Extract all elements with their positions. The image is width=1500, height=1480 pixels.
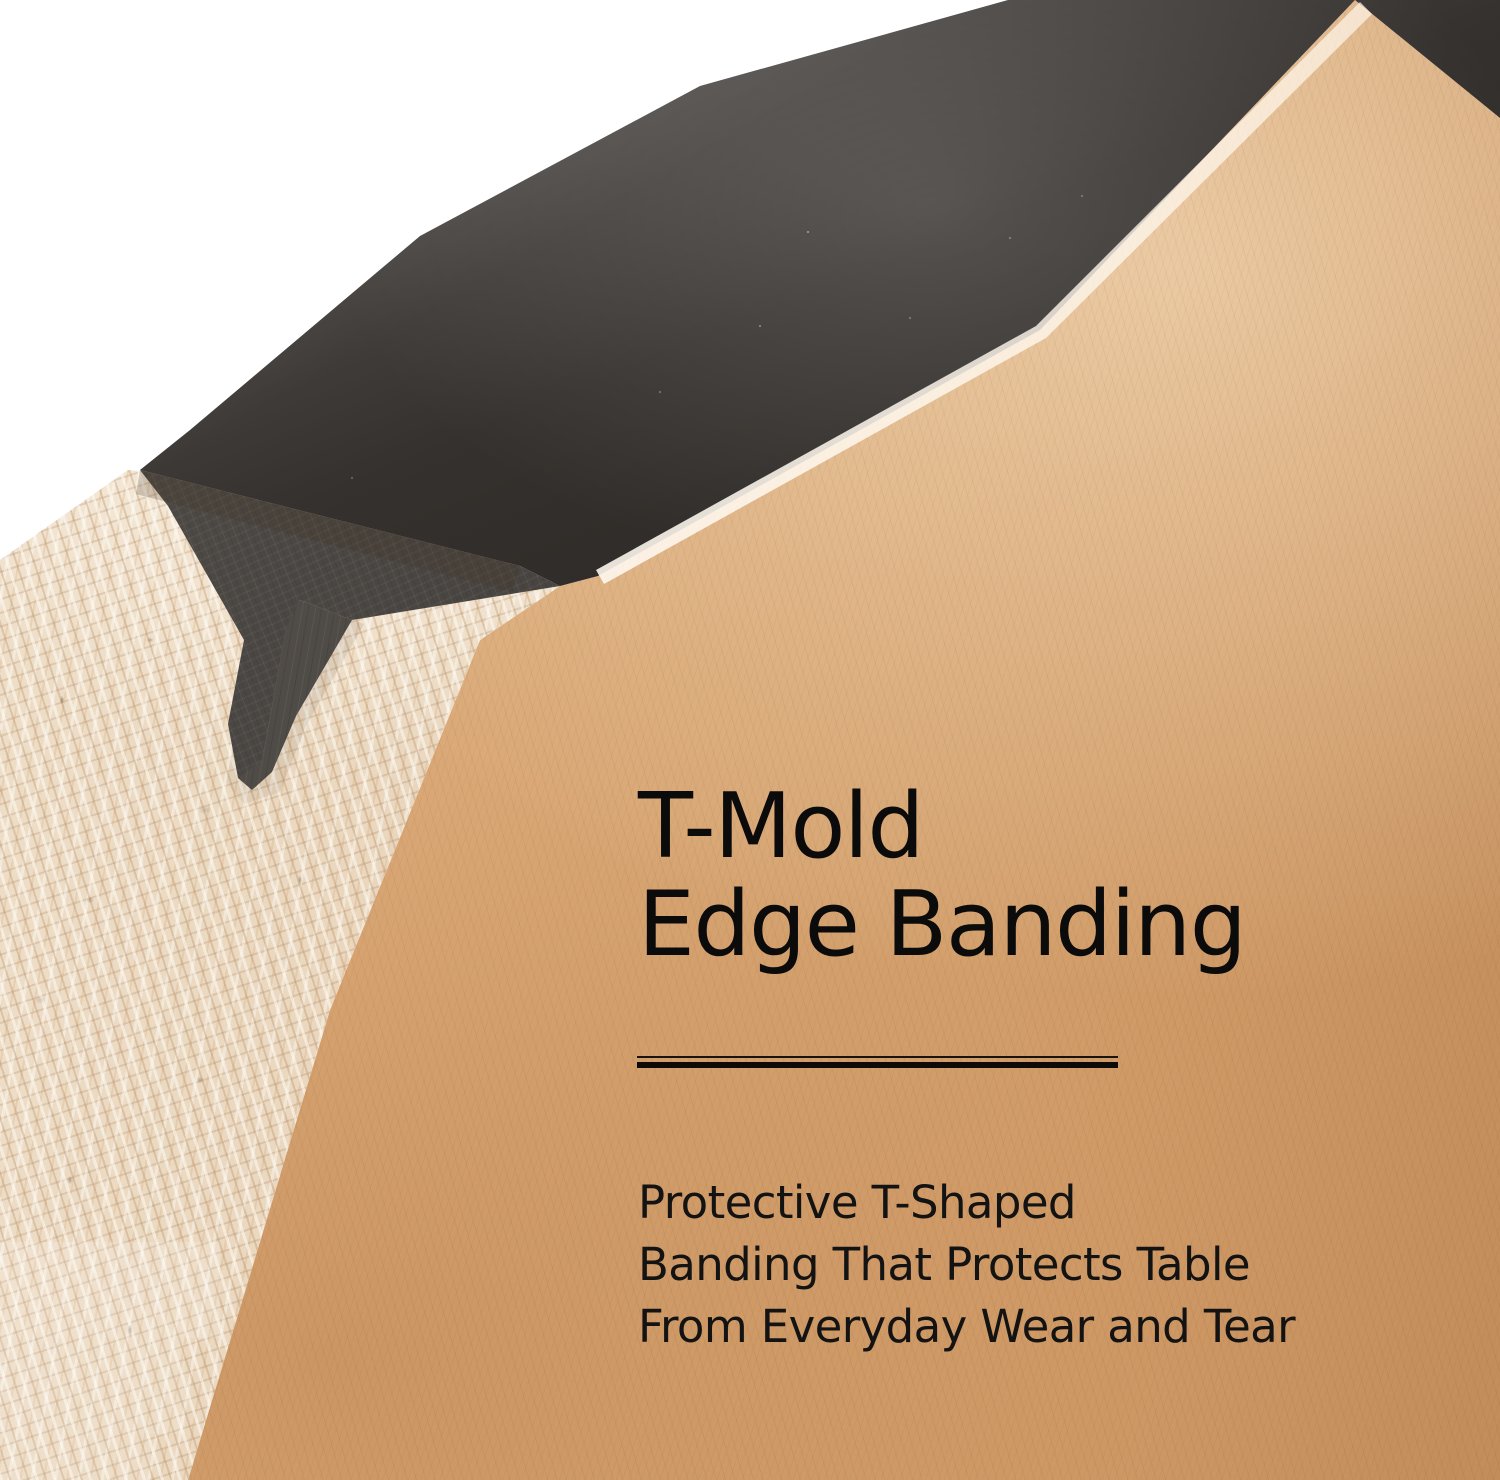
divider-thick-rule bbox=[637, 1062, 1118, 1068]
divider bbox=[637, 1056, 1118, 1068]
divider-thin-rule bbox=[637, 1056, 1118, 1058]
product-feature-image: T-Mold Edge Banding Protective T-Shaped … bbox=[0, 0, 1500, 1480]
headline: T-Mold Edge Banding bbox=[638, 778, 1398, 974]
body-copy: Protective T-Shaped Banding That Protect… bbox=[638, 1172, 1418, 1358]
